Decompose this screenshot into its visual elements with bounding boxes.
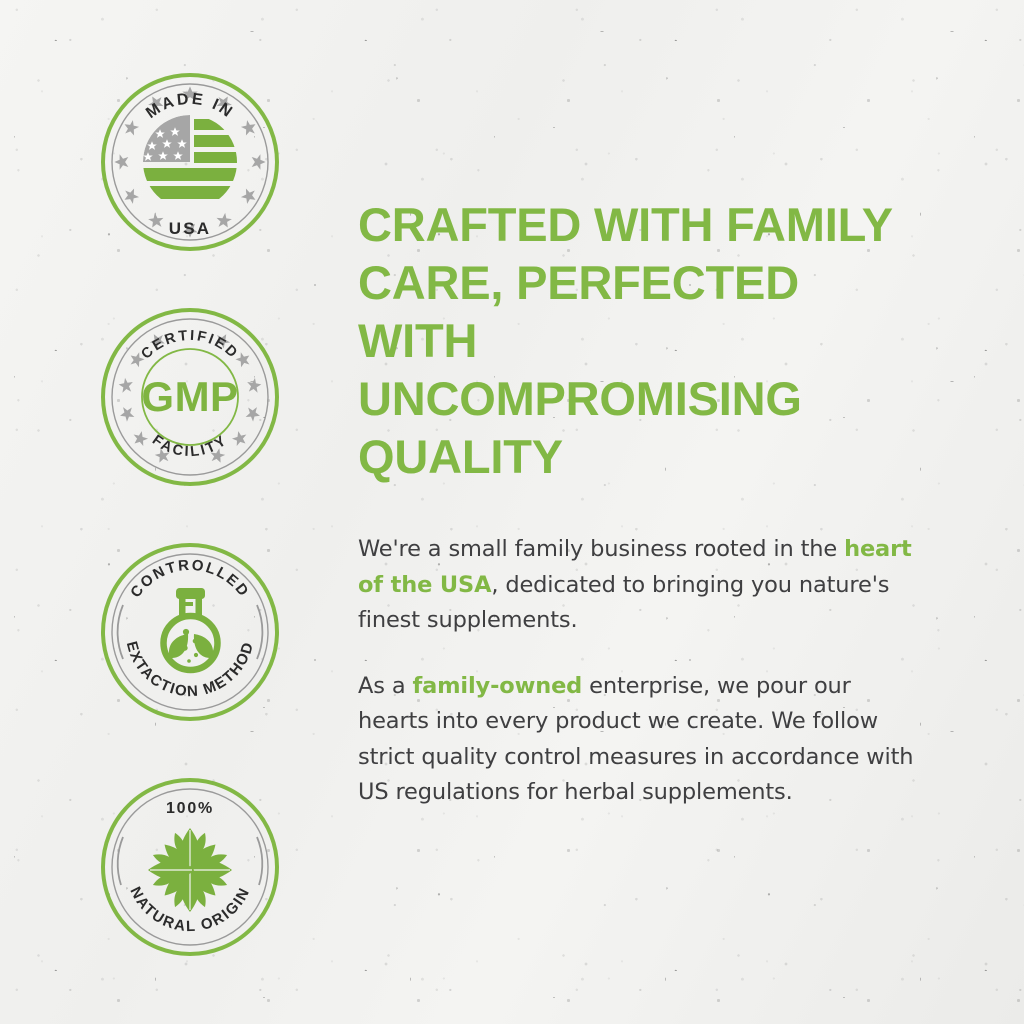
intro-paragraph-1: We're a small family business rooted in … [358,532,918,639]
badge-gmp-top-text: CERTIFIED [138,328,241,363]
badge-gmp-center-text: GMP [141,373,238,420]
paragraph-2-part-1: As a [358,673,412,699]
paragraph-1-part-1: We're a small family business rooted in … [358,536,844,562]
badge-natural-origin: 100% NATURAL ORIGIN [100,777,280,957]
badge-natural-origin-top-text: 100% [166,800,214,817]
badge-made-in-usa-top-text: MADE IN [143,91,237,122]
intro-paragraph-2: As a family-owned enterprise, we pour ou… [358,669,918,811]
leaf-rosette-icon [148,828,232,912]
right-accent-arc [257,605,262,659]
badge-made-in-usa: MADE IN USA [100,72,280,252]
left-accent-arc [118,605,123,659]
promo-page: MADE IN USA [0,0,1024,1024]
us-flag-circle-icon [140,115,240,199]
left-accent-arc [118,837,123,885]
badge-gmp-certified: GMP CERTIFIED FACILITY [100,307,280,487]
trust-badge-column: MADE IN USA [100,72,282,957]
paragraph-2-highlight: family-owned [412,673,582,699]
badge-made-in-usa-bottom-text: USA [169,219,212,238]
page-headline: CRAFTED WITH FAMILY CARE, PERFECTED WITH… [358,196,918,486]
text-content-column: CRAFTED WITH FAMILY CARE, PERFECTED WITH… [358,196,918,811]
badge-controlled-extraction: CONTROLLED EXTACTION METHOD [100,542,280,722]
flask-with-leaves-icon [164,588,218,670]
right-accent-arc [257,837,262,885]
